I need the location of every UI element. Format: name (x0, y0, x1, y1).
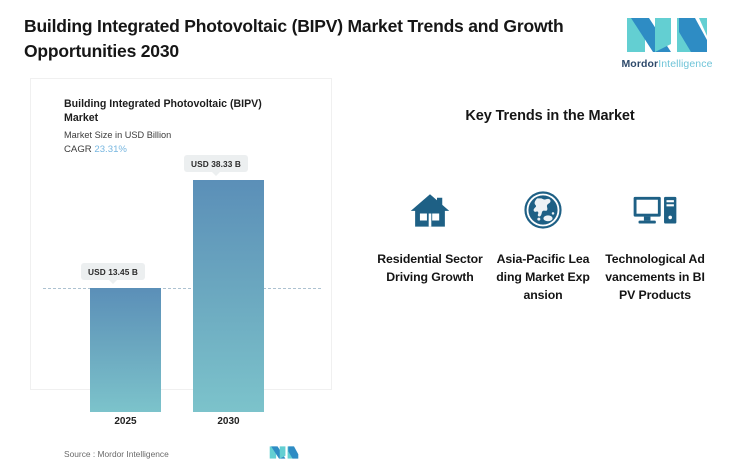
trend-label-asia-pacific: Asia-Pacific Leading Market Expansion (493, 251, 593, 304)
brand-name-light: Intelligence (658, 58, 712, 70)
bar-2030 (193, 180, 264, 412)
globe-icon (484, 185, 602, 235)
reference-dashed-line (43, 288, 321, 289)
brand-logo: MordorIntelligence (602, 14, 732, 70)
desktop-computer-icon (596, 185, 714, 235)
bar-value-label-2025: USD 13.45 B (81, 263, 145, 280)
bar-plot-area: USD 13.45 B USD 38.33 B 2025 2030 (31, 79, 333, 391)
x-axis-label-2025: 2025 (90, 416, 161, 427)
bar-value-label-2030: USD 38.33 B (184, 155, 248, 172)
infographic-page: Building Integrated Photovoltaic (BIPV) … (0, 0, 750, 402)
key-trends-heading: Key Trends in the Market (360, 108, 740, 124)
mordor-intelligence-logo-mark (625, 14, 709, 56)
house-icon (371, 185, 489, 235)
bar-2025 (90, 288, 161, 412)
x-axis-label-2030: 2030 (193, 416, 264, 427)
chart-source: Source : Mordor Intelligence (64, 449, 169, 459)
trend-item-residential: Residential Sector Driving Growth (371, 185, 489, 287)
trend-label-residential: Residential Sector Driving Growth (377, 251, 483, 287)
brand-wordmark: MordorIntelligence (602, 58, 732, 70)
market-size-chart-card: Building Integrated Photovoltaic (BIPV) … (30, 78, 332, 390)
trend-item-technology: Technological Advancements in BIPV Produ… (596, 185, 714, 304)
source-logo-mark (269, 445, 299, 460)
brand-name-bold: Mordor (621, 58, 658, 70)
trend-label-technology: Technological Advancements in BIPV Produ… (603, 251, 707, 304)
page-title: Building Integrated Photovoltaic (BIPV) … (24, 14, 564, 64)
trend-item-asia-pacific: Asia-Pacific Leading Market Expansion (484, 185, 602, 304)
